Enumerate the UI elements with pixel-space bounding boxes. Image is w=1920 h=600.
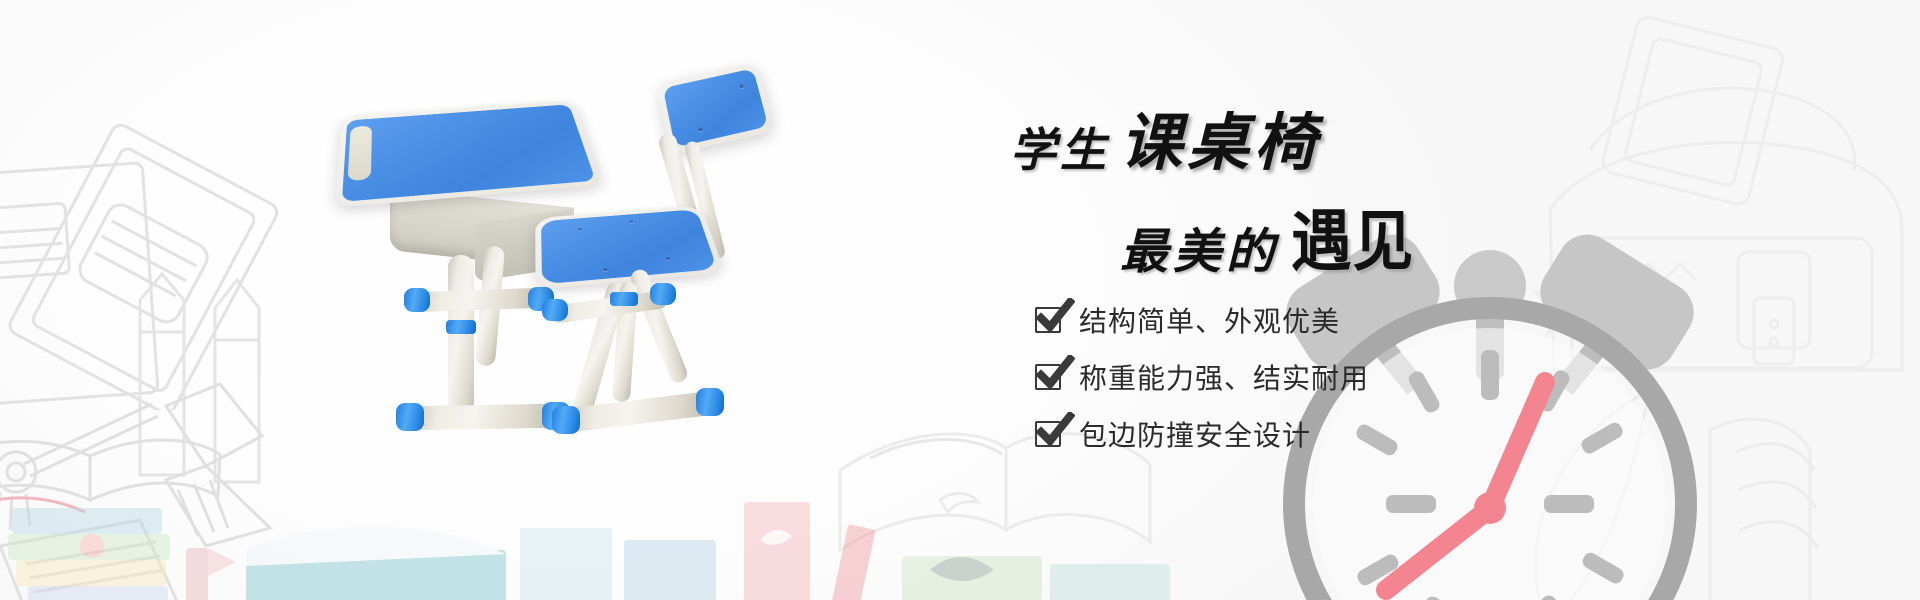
headline-line2-small: 最美的 bbox=[1120, 226, 1279, 279]
headline-line-1: 学生课桌椅 bbox=[1010, 92, 1570, 182]
feature-label: 包边防撞安全设计 bbox=[1079, 414, 1311, 454]
desk-top-panel bbox=[335, 100, 604, 208]
book-line-art bbox=[0, 110, 280, 410]
feature-item: 包边防撞安全设计 bbox=[1035, 414, 1369, 454]
headline-block: 学生课桌椅 最美的遇见 bbox=[1010, 92, 1570, 284]
feature-item: 称重能力强、结实耐用 bbox=[1035, 357, 1369, 397]
promo-banner: 学生课桌椅 最美的遇见 结构简单、外观优美 称重能力强、结实耐用 包边防撞安全设… bbox=[0, 0, 1920, 600]
headline-line1-small: 学生 bbox=[1010, 125, 1110, 176]
product-photo-desk-chair bbox=[320, 70, 840, 450]
feature-label: 称重能力强、结实耐用 bbox=[1079, 357, 1369, 397]
colorful-books-illustration bbox=[0, 430, 1200, 600]
headline-line2-heavy: 遇见 bbox=[1291, 188, 1414, 284]
checkbox-checked-icon bbox=[1035, 421, 1061, 447]
headline-line1-large: 课桌椅 bbox=[1120, 110, 1321, 178]
checkbox-checked-icon bbox=[1035, 307, 1061, 333]
checkbox-checked-icon bbox=[1035, 364, 1061, 390]
feature-item: 结构简单、外观优美 bbox=[1035, 300, 1369, 340]
headline-line-2: 最美的遇见 bbox=[1010, 188, 1570, 284]
feature-label: 结构简单、外观优美 bbox=[1079, 300, 1340, 340]
feature-list: 结构简单、外观优美 称重能力强、结实耐用 包边防撞安全设计 bbox=[1035, 300, 1369, 471]
